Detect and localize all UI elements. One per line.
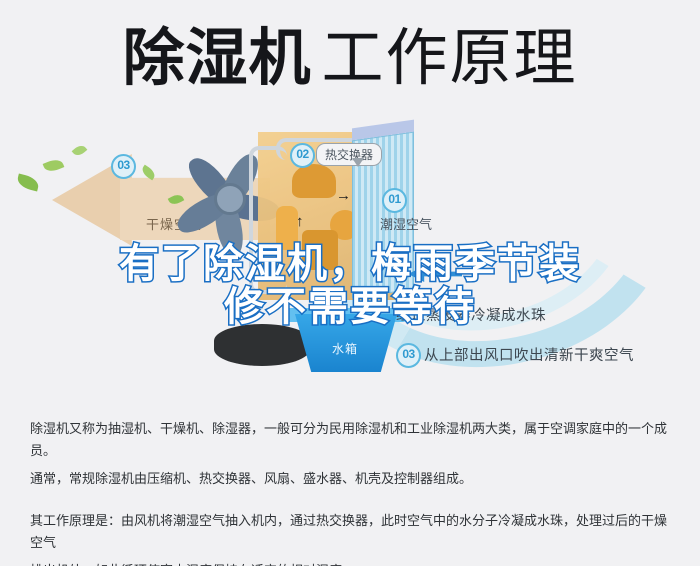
paragraph-1-line-1: 除湿机又称为抽湿机、干燥机、除湿器，一般可分为民用除湿机和工业除湿机两大类，属于… xyxy=(30,418,678,462)
infographic-page: 除湿机工作原理 干燥空气 ↑ xyxy=(0,0,700,566)
paragraph-2-line-2: 排出机外，如此循环使室内湿度保持在适宜的相对湿度。 xyxy=(30,560,678,566)
page-title: 除湿机工作原理 xyxy=(0,28,700,90)
title-part-1: 除湿机 xyxy=(122,24,311,93)
paragraph-spacer xyxy=(30,496,678,510)
badge-02-heat-exchanger: 02 xyxy=(290,143,315,168)
badge-03-outlet: 03 xyxy=(396,343,421,368)
water-tank-label: 水箱 xyxy=(332,340,358,357)
badge-03-dry-air: 03 xyxy=(111,154,136,179)
leaf-icon xyxy=(16,174,40,192)
compressor-part xyxy=(302,230,338,270)
paragraph-1-line-2: 通常，常规除湿机由压缩机、热交换器、风扇、盛水器、机壳及控制器组成。 xyxy=(30,468,678,490)
legend-line-condensation: 经过蒸发器冷凝成水珠 xyxy=(396,304,546,325)
legend-line-outlet: 从上部出风口吹出清新干爽空气 xyxy=(424,344,634,365)
leaf-icon xyxy=(72,143,88,158)
heat-exchanger-callout: 热交换器 xyxy=(316,143,382,166)
flow-arrow-up: ↑ xyxy=(296,214,304,229)
compressor-part xyxy=(276,206,298,250)
moist-air-label: 潮湿空气 xyxy=(380,214,432,233)
compressor-part xyxy=(292,164,336,198)
machine-base xyxy=(214,324,310,366)
callout-tail-icon xyxy=(352,158,364,167)
title-part-2: 工作原理 xyxy=(322,24,578,93)
paragraph-2-line-1: 其工作原理是：由风机将潮湿空气抽入机内，通过热交换器，此时空气中的水分子冷凝成水… xyxy=(30,510,678,554)
leaf-icon xyxy=(43,157,65,174)
badge-01-moist-air: 01 xyxy=(382,188,407,213)
flow-arrow-right: → xyxy=(336,188,351,203)
dehumidifier-diagram: 干燥空气 ↑ → ↓ xyxy=(0,118,700,398)
article-body: 除湿机又称为抽湿机、干燥机、除湿器，一般可分为民用除湿机和工业除湿机两大类，属于… xyxy=(30,418,678,566)
